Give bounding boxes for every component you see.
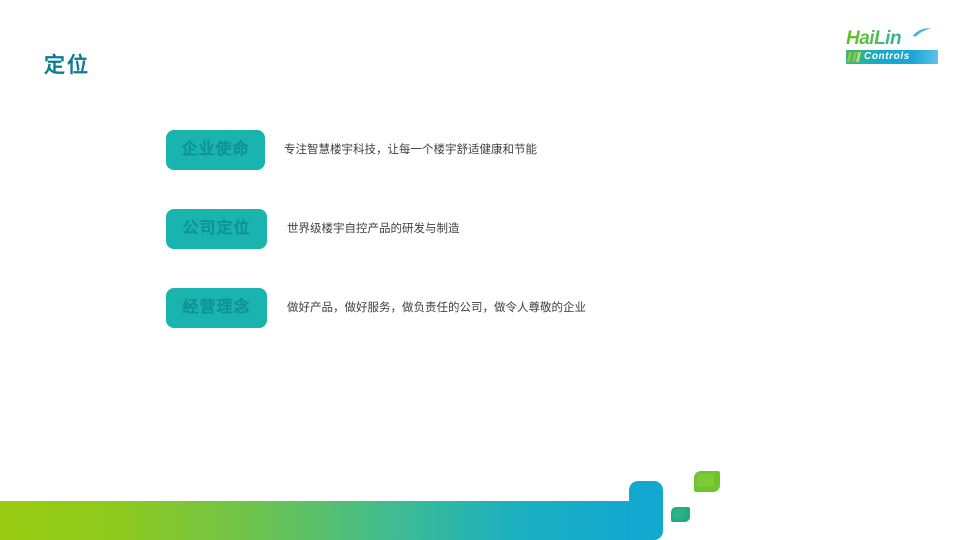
list-item: 经营理念 做好产品，做好服务，做负责任的公司，做令人尊敬的企业 <box>166 288 886 328</box>
list-item: 企业使命 专注智慧楼宇科技，让每一个楼宇舒适健康和节能 <box>166 130 886 170</box>
badge-mission[interactable]: 企业使命 <box>166 130 265 170</box>
badge-positioning[interactable]: 公司定位 <box>166 209 267 249</box>
badge-label: 公司定位 <box>182 221 250 237</box>
row-description: 世界级楼宇自控产品的研发与制造 <box>287 222 460 236</box>
footer-gradient-bar <box>0 501 641 540</box>
row-description: 做好产品，做好服务，做负责任的公司，做令人尊敬的企业 <box>287 301 586 315</box>
decorative-blue-block <box>629 481 663 540</box>
badge-philosophy[interactable]: 经营理念 <box>166 288 267 328</box>
decorative-green-leaf <box>694 471 720 492</box>
list-item: 公司定位 世界级楼宇自控产品的研发与制造 <box>166 209 886 249</box>
hailin-controls-logo: HaiLin Controls <box>846 28 938 70</box>
logo-bars-icon <box>848 52 860 62</box>
logo-subtitle: Controls <box>864 50 910 64</box>
leaf-swoosh-icon <box>912 28 931 37</box>
slide-canvas: 定位 HaiLin Controls 企业使命 专注智慧楼宇科技，让每一个楼宇舒… <box>0 0 960 540</box>
content-list: 企业使命 专注智慧楼宇科技，让每一个楼宇舒适健康和节能 公司定位 世界级楼宇自控… <box>166 130 886 367</box>
badge-label: 经营理念 <box>182 300 250 316</box>
decorative-teal-leaf <box>671 507 690 522</box>
page-title: 定位 <box>44 55 90 76</box>
row-description: 专注智慧楼宇科技，让每一个楼宇舒适健康和节能 <box>284 143 537 157</box>
badge-label: 企业使命 <box>181 142 249 158</box>
